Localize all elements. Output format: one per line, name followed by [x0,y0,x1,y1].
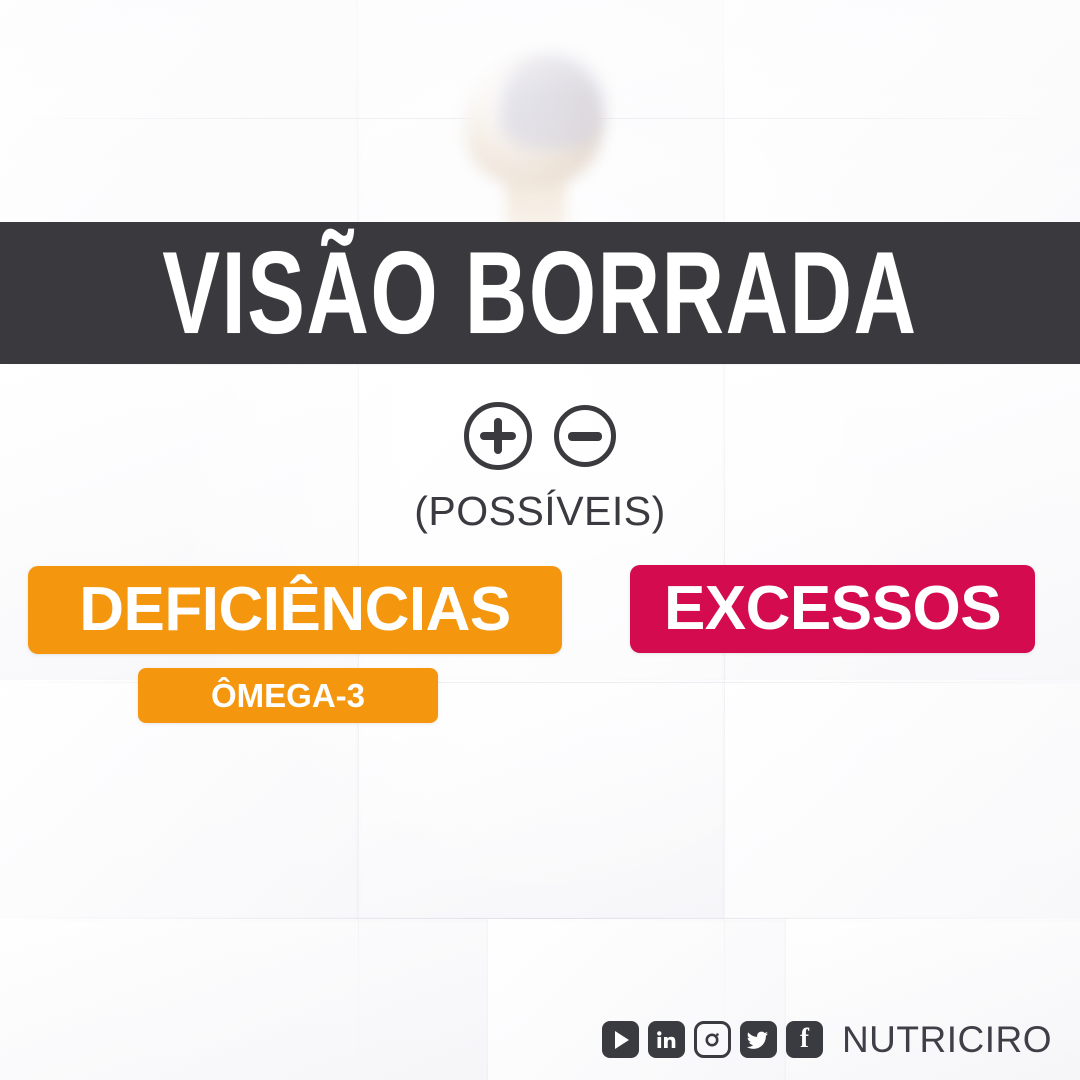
minus-horizontal-bar [568,432,602,441]
minus-circle-icon [554,405,616,467]
title-banner: VISÃO BORRADA [0,222,1080,364]
badge-deficiencias[interactable]: DEFICIÊNCIAS [28,566,562,654]
linkedin-glyph [655,1029,677,1051]
twitter-icon[interactable] [740,1021,777,1058]
footer-social-bar: f NUTRICIRO [602,1021,1052,1058]
symbol-row [0,402,1080,470]
facebook-f-glyph: f [800,1025,809,1052]
play-triangle-icon [615,1031,629,1049]
hero-photo [0,0,1080,240]
subtitle-possiveis: (POSSÍVEIS) [0,488,1080,535]
plus-vertical-bar [494,418,502,454]
instagram-glyph [702,1030,722,1050]
badge-excessos[interactable]: EXCESSOS [630,565,1035,653]
badge-omega-3[interactable]: ÔMEGA-3 [138,668,438,723]
plus-circle-icon [464,402,532,470]
facebook-icon[interactable]: f [786,1021,823,1058]
youtube-icon[interactable] [602,1021,639,1058]
social-post-canvas: VISÃO BORRADA (POSSÍVEIS) DEFICIÊNCIAS E… [0,0,1080,1080]
linkedin-icon[interactable] [648,1021,685,1058]
instagram-icon[interactable] [694,1021,731,1058]
page-title: VISÃO BORRADA [162,235,917,352]
photo-overexposure-fade [0,0,1080,240]
brand-name: NUTRICIRO [842,1021,1052,1058]
twitter-bird-glyph [746,1028,770,1052]
